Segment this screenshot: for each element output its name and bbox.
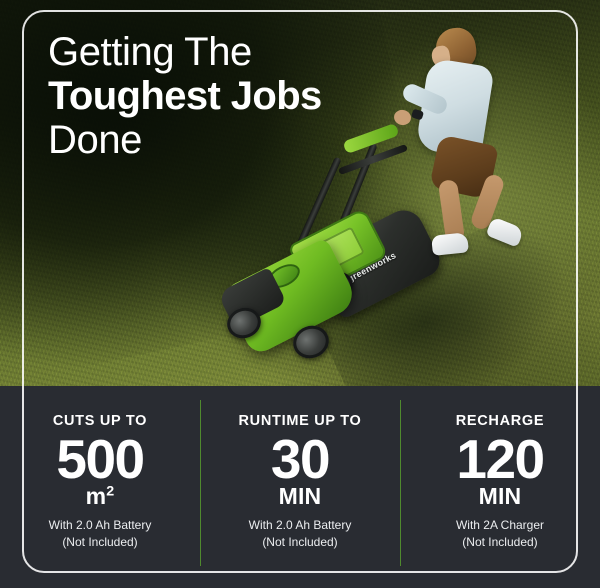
stat-recharge: RECHARGE 120 MIN With 2A Charger (Not In… (400, 386, 600, 588)
stat-note-line-2: (Not Included) (456, 534, 544, 551)
stat-unit-superscript: 2 (106, 483, 114, 499)
headline: Getting The Toughest Jobs Done (48, 30, 428, 162)
headline-line-1: Getting The (48, 30, 428, 74)
stat-unit: MIN (479, 485, 522, 508)
stat-unit: MIN (279, 485, 322, 508)
stat-note-line-1: With 2A Charger (456, 517, 544, 534)
stat-note-line-2: (Not Included) (249, 534, 352, 551)
stat-unit-text: m (86, 483, 107, 509)
stat-unit: m2 (86, 485, 115, 508)
stat-unit-text: MIN (279, 483, 322, 509)
stats-panel: CUTS UP TO 500 m2 With 2.0 Ah Battery (N… (0, 386, 600, 588)
stat-label: RECHARGE (456, 414, 545, 429)
stat-label: CUTS UP TO (53, 414, 147, 429)
person-front-shoe (485, 216, 524, 247)
stat-note-line-1: With 2.0 Ah Battery (49, 517, 152, 534)
person-back-shoe (431, 232, 469, 256)
stat-runtime-up-to: RUNTIME UP TO 30 MIN With 2.0 Ah Battery… (200, 386, 400, 588)
stat-unit-text: MIN (479, 483, 522, 509)
stat-cuts-up-to: CUTS UP TO 500 m2 With 2.0 Ah Battery (N… (0, 386, 200, 588)
headline-line-3: Done (48, 118, 428, 162)
stat-note: With 2A Charger (Not Included) (456, 517, 544, 552)
stat-label: RUNTIME UP TO (239, 414, 362, 429)
stat-note-line-2: (Not Included) (49, 534, 152, 551)
headline-line-2: Toughest Jobs (48, 74, 428, 118)
stat-value: 120 (456, 431, 543, 488)
stat-value: 30 (271, 431, 329, 488)
stat-note: With 2.0 Ah Battery (Not Included) (249, 517, 352, 552)
stat-note-line-1: With 2.0 Ah Battery (249, 517, 352, 534)
stat-value: 500 (56, 431, 143, 488)
stat-note: With 2.0 Ah Battery (Not Included) (49, 517, 152, 552)
hero-photo: greenworks Getting The (0, 0, 600, 386)
product-feature-banner: greenworks Getting The (0, 0, 600, 588)
